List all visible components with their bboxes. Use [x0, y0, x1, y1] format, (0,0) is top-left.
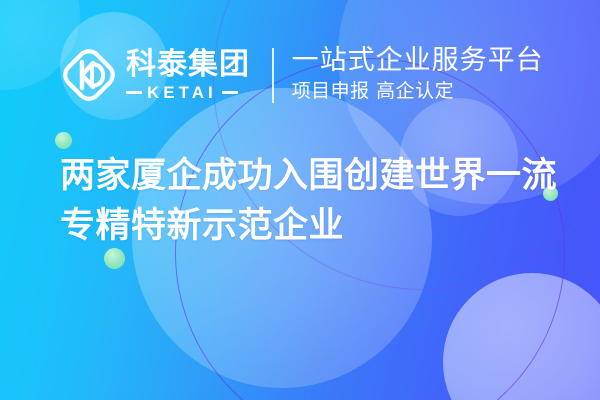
brand-wordmark: 科泰集团 KETAI [126, 50, 250, 101]
tagline-primary: 一站式企业服务平台 [292, 46, 544, 76]
banner-image: 科泰集团 KETAI 一站式企业服务平台 项目申报 高企认定 两家厦企成功入围创… [0, 0, 600, 400]
decor-dot-upper-left [55, 132, 72, 149]
brand-name-cn: 科泰集团 [126, 50, 250, 80]
wordmark-rule-right [222, 91, 238, 94]
ketai-diamond-kd-logo-icon [58, 44, 120, 106]
brand-header: 科泰集团 KETAI 一站式企业服务平台 项目申报 高企认定 [58, 44, 544, 106]
header-divider [272, 48, 274, 103]
wordmark-rule-left [126, 91, 142, 94]
decor-circle-bottom-right [443, 273, 600, 400]
brand-tagline: 一站式企业服务平台 项目申报 高企认定 [292, 46, 544, 104]
headline-title: 两家厦企成功入围创建世界一流专精特新示范企业 [60, 152, 565, 251]
tagline-secondary: 项目申报 高企认定 [292, 80, 544, 104]
brand-name-en-row: KETAI [126, 84, 250, 101]
brand-name-en: KETAI [147, 84, 217, 101]
